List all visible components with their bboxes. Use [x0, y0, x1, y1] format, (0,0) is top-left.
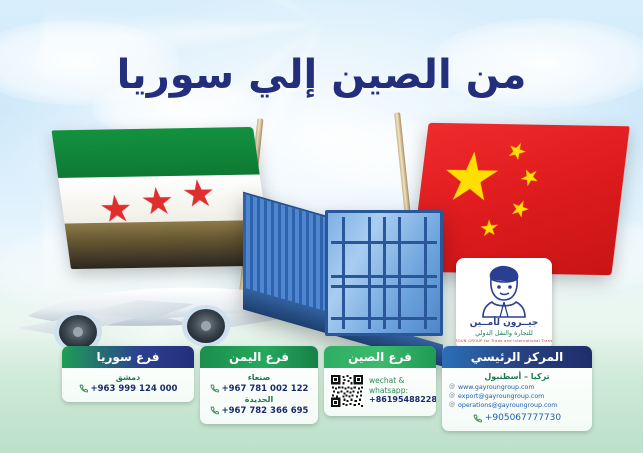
- whatsapp-number: +8619548822810: [369, 395, 436, 405]
- phone-number: +967 782 366 695: [222, 406, 309, 416]
- logo-subtitle: للتجارة والنقل الدولي: [475, 330, 533, 337]
- card-body-china: wechat & whatsapp: +8619548822810: [324, 368, 436, 416]
- card-china-branch[interactable]: فرع الصين: [324, 346, 436, 416]
- phone-icon: [473, 414, 482, 423]
- flag-star-small: [517, 165, 543, 190]
- email-row[interactable]: @ export@gayroungroup.com: [449, 392, 585, 401]
- whatsapp-label: whatsapp:: [369, 386, 436, 395]
- website-url: www.gayroungroup.com: [458, 383, 534, 392]
- flag-star-small: [508, 198, 532, 221]
- email-operations: operations@gayroungroup.com: [458, 401, 557, 410]
- phone-icon: [79, 384, 88, 393]
- card-head-office[interactable]: المركز الرئيسي تركيا – أسطنبول @ www.gay…: [442, 346, 592, 431]
- phone-row[interactable]: +905067777730: [449, 412, 585, 425]
- flag-star-large: [441, 151, 502, 206]
- phone-row[interactable]: +967 782 366 695: [206, 406, 312, 416]
- company-face-logo-icon: [478, 262, 530, 318]
- phone-row[interactable]: +963 999 124 000: [68, 384, 188, 394]
- logo-english-name: GAYROUN GROUP for Trade and Internationa…: [456, 339, 552, 343]
- qr-code-icon[interactable]: [330, 374, 364, 408]
- phone-number: +967 781 002 122: [222, 384, 309, 394]
- page-title: من الصين إلي سوريا: [0, 52, 643, 98]
- syria-flag: [52, 127, 273, 269]
- phone-number: +905067777730: [485, 412, 561, 425]
- flag-stripe-green: [52, 127, 260, 178]
- phone-icon: [210, 384, 219, 393]
- contact-cards-row: فرع سوريا دمشق +963 999 124 000 فرع اليم…: [0, 346, 643, 431]
- flag-star-small: [480, 218, 499, 238]
- china-contact-text: wechat & whatsapp: +8619548822810: [369, 376, 436, 405]
- city-label: صنعاء: [206, 373, 312, 382]
- at-icon: @: [449, 401, 455, 410]
- flag-stripe-black: [65, 220, 273, 269]
- card-header-head-office: المركز الرئيسي: [442, 346, 592, 368]
- phone-icon: [210, 406, 219, 415]
- card-yemen-branch[interactable]: فرع اليمن صنعاء +967 781 002 122 الحديدة…: [200, 346, 318, 424]
- card-header-china: فرع الصين: [324, 346, 436, 368]
- city-label: تركيا – أسطنبول: [449, 372, 585, 381]
- card-header-syria: فرع سوريا: [62, 346, 194, 368]
- at-icon: @: [449, 383, 455, 392]
- flag-star-small: [505, 140, 530, 163]
- website-row[interactable]: @ www.gayroungroup.com: [449, 383, 585, 392]
- card-body-head-office: تركيا – أسطنبول @ www.gayroungroup.com @…: [442, 368, 592, 431]
- logo-company-name: جيــرون لأمــين: [470, 319, 539, 328]
- card-body-yemen: صنعاء +967 781 002 122 الحديدة +967 782 …: [200, 368, 318, 424]
- card-body-syria: دمشق +963 999 124 000: [62, 368, 194, 402]
- city-label: الحديدة: [206, 395, 312, 404]
- email-row[interactable]: @ operations@gayroungroup.com: [449, 401, 585, 410]
- shipping-container: [243, 196, 448, 336]
- container-doors: [325, 210, 443, 336]
- card-syria-branch[interactable]: فرع سوريا دمشق +963 999 124 000: [62, 346, 194, 402]
- city-label: دمشق: [68, 373, 188, 382]
- wechat-label: wechat &: [369, 376, 436, 385]
- phone-row[interactable]: +967 781 002 122: [206, 384, 312, 394]
- card-header-yemen: فرع اليمن: [200, 346, 318, 368]
- phone-number: +963 999 124 000: [91, 384, 178, 394]
- poster-canvas: من الصين إلي سوريا: [0, 0, 643, 453]
- company-logo-badge: جيــرون لأمــين للتجارة والنقل الدولي GA…: [456, 258, 552, 350]
- email-export: export@gayroungroup.com: [458, 392, 544, 401]
- at-icon: @: [449, 392, 455, 401]
